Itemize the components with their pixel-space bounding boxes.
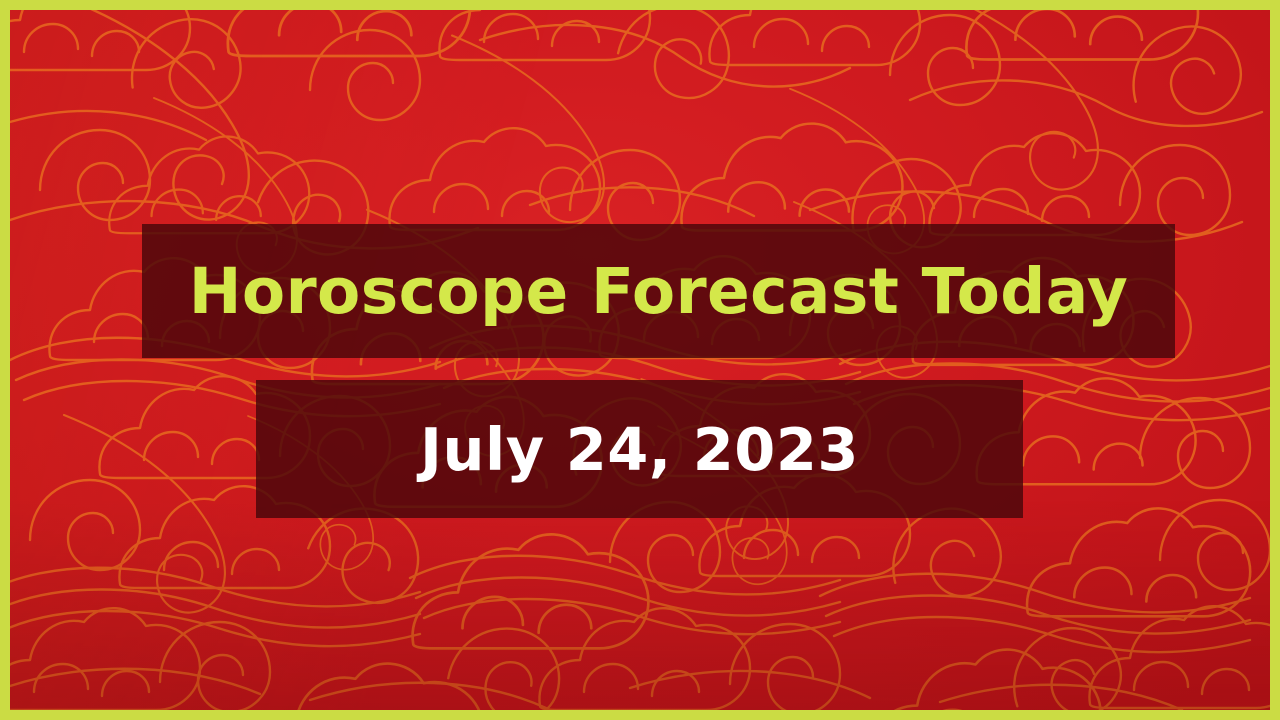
page-title: Horoscope Forecast Today (189, 260, 1128, 323)
forecast-date: July 24, 2023 (420, 420, 859, 479)
cloud-swirl-pattern-icon (10, 10, 1270, 710)
date-band: July 24, 2023 (256, 380, 1023, 518)
poster-canvas: Horoscope Forecast Today July 24, 2023 (0, 0, 1280, 720)
title-band: Horoscope Forecast Today (142, 224, 1175, 358)
